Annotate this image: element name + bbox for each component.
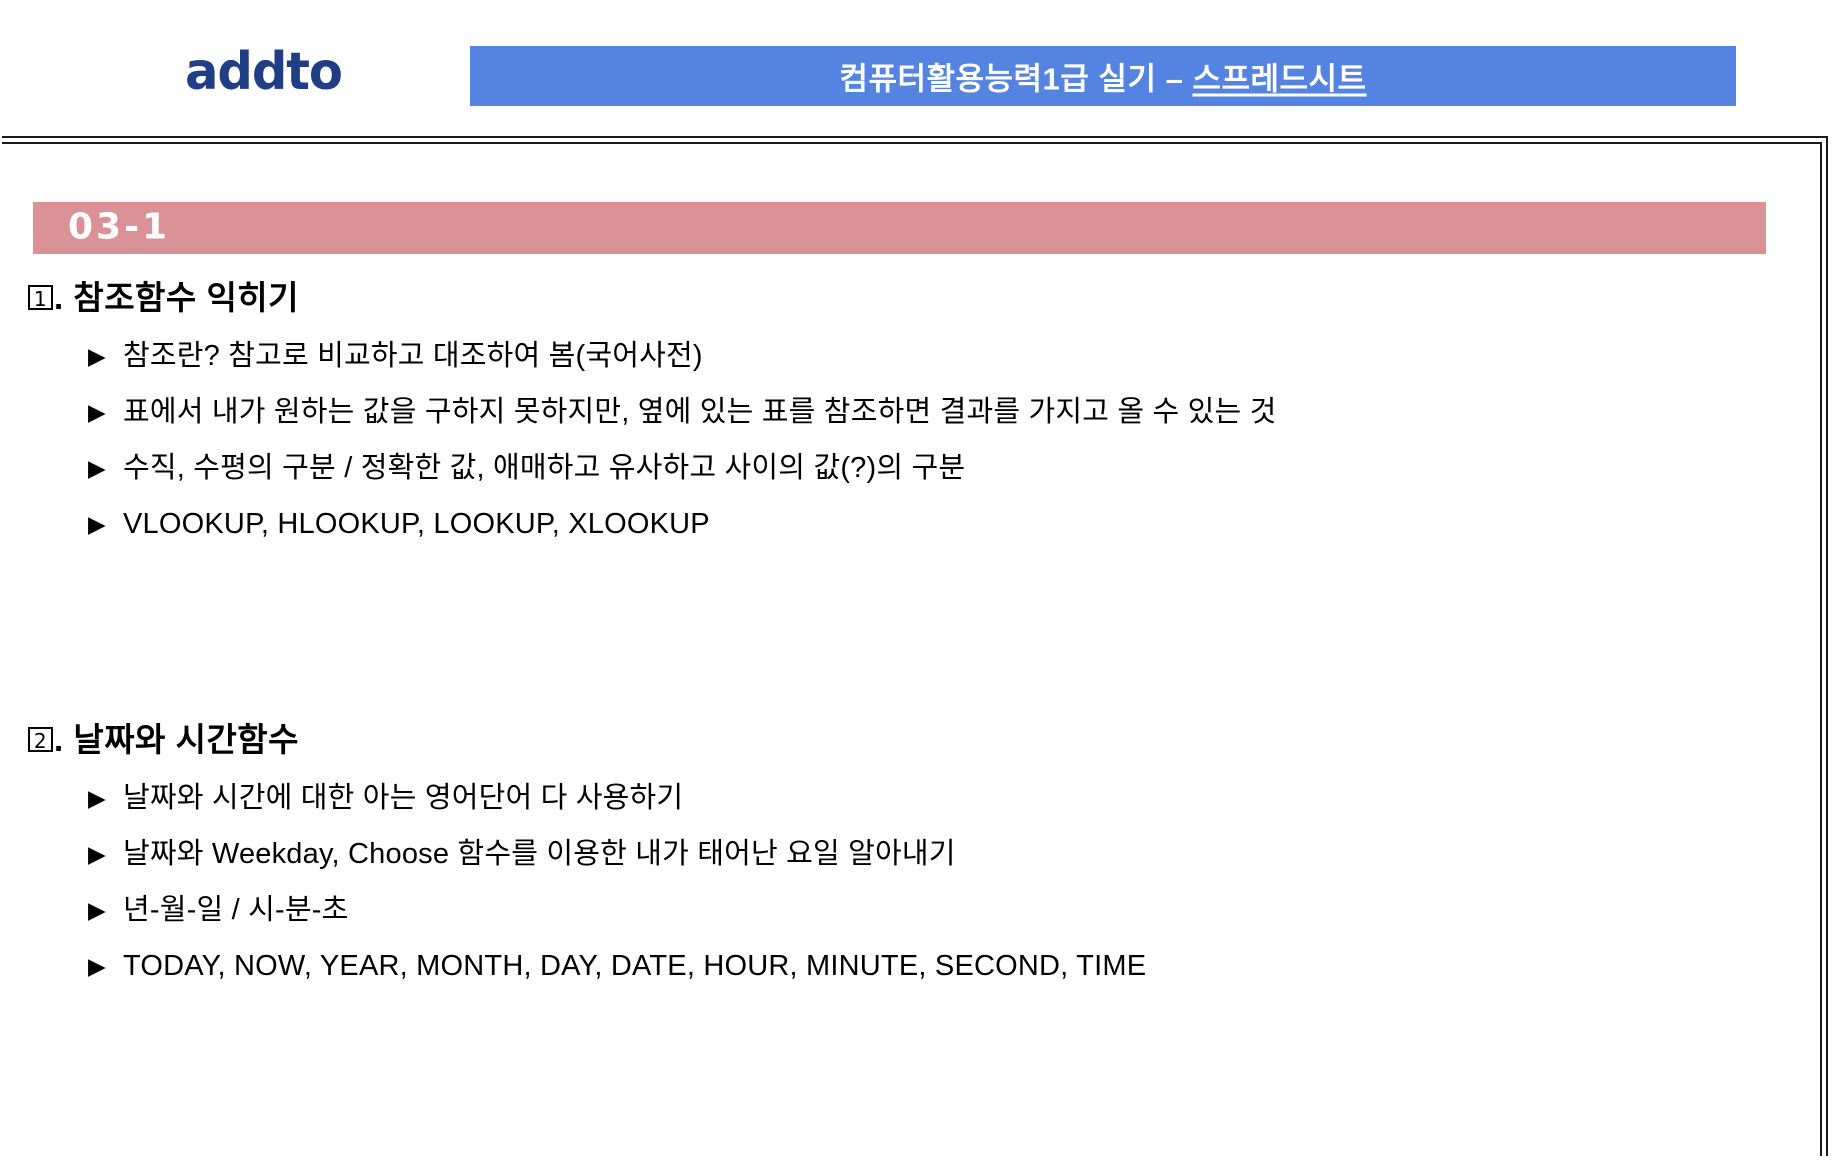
- triangle-bullet-icon: ▶: [88, 837, 106, 872]
- boxed-numeral-icon: 1: [28, 285, 53, 310]
- section-block-1: 1. 참조함수 익히기 ▶ 참조란? 참고로 비교하고 대조하여 봄(국어사전)…: [0, 278, 1836, 562]
- list-item-text: VLOOKUP, HLOOKUP, LOOKUP, XLOOKUP: [123, 506, 710, 543]
- triangle-bullet-icon: ▶: [88, 781, 106, 816]
- triangle-bullet-icon: ▶: [88, 507, 106, 542]
- section-heading-2: 2. 날짜와 시간함수: [28, 720, 1836, 760]
- section-heading-text: . 날짜와 시간함수: [54, 721, 299, 758]
- header-title: 컴퓨터활용능력1급 실기 – 스프레드시트: [470, 54, 1736, 99]
- bullet-list-2: ▶ 날짜와 시간에 대한 아는 영어단어 다 사용하기 ▶ 날짜와 Weekda…: [0, 780, 1836, 985]
- list-item: ▶ 날짜와 시간에 대한 아는 영어단어 다 사용하기: [0, 780, 1836, 817]
- list-item-text: TODAY, NOW, YEAR, MONTH, DAY, DATE, HOUR…: [123, 948, 1146, 985]
- header-title-underlined: 스프레드시트: [1192, 62, 1366, 97]
- section-block-2: 2. 날짜와 시간함수 ▶ 날짜와 시간에 대한 아는 영어단어 다 사용하기 …: [0, 720, 1836, 1004]
- list-item: ▶ 수직, 수평의 구분 / 정확한 값, 애매하고 유사하고 사이의 값(?)…: [0, 450, 1836, 487]
- triangle-bullet-icon: ▶: [88, 949, 106, 984]
- triangle-bullet-icon: ▶: [88, 395, 106, 430]
- bullet-list-1: ▶ 참조란? 참고로 비교하고 대조하여 봄(국어사전) ▶ 표에서 내가 원하…: [0, 338, 1836, 543]
- list-item-text: 수직, 수평의 구분 / 정확한 값, 애매하고 유사하고 사이의 값(?)의 …: [123, 450, 965, 487]
- section-banner: 03-1: [33, 202, 1766, 254]
- slide-header: addto 컴퓨터활용능력1급 실기 – 스프레드시트: [0, 0, 1836, 133]
- list-item-text: 날짜와 Weekday, Choose 함수를 이용한 내가 태어난 요일 알아…: [123, 836, 956, 873]
- section-banner-label: 03-1: [68, 207, 170, 248]
- header-title-bar: 컴퓨터활용능력1급 실기 – 스프레드시트: [470, 46, 1736, 106]
- triangle-bullet-icon: ▶: [88, 451, 106, 486]
- section-heading-text: . 참조함수 익히기: [54, 279, 299, 316]
- list-item-text: 표에서 내가 원하는 값을 구하지 못하지만, 옆에 있는 표를 참조하면 결과…: [123, 394, 1277, 431]
- list-item-text: 참조란? 참고로 비교하고 대조하여 봄(국어사전): [123, 338, 703, 375]
- list-item: ▶ 참조란? 참고로 비교하고 대조하여 봄(국어사전): [0, 338, 1836, 375]
- triangle-bullet-icon: ▶: [88, 339, 106, 374]
- boxed-numeral-icon: 2: [28, 727, 53, 752]
- list-item: ▶ 년-월-일 / 시-분-초: [0, 892, 1836, 929]
- section-heading-1: 1. 참조함수 익히기: [28, 278, 1836, 318]
- list-item-text: 날짜와 시간에 대한 아는 영어단어 다 사용하기: [123, 780, 683, 817]
- list-item-text: 년-월-일 / 시-분-초: [123, 892, 348, 929]
- list-item: ▶ TODAY, NOW, YEAR, MONTH, DAY, DATE, HO…: [0, 948, 1836, 985]
- list-item: ▶ 날짜와 Weekday, Choose 함수를 이용한 내가 태어난 요일 …: [0, 836, 1836, 873]
- addto-logo: addto: [185, 46, 342, 98]
- header-title-main: 컴퓨터활용능력1급 실기 –: [839, 62, 1192, 97]
- triangle-bullet-icon: ▶: [88, 893, 106, 928]
- list-item: ▶ 표에서 내가 원하는 값을 구하지 못하지만, 옆에 있는 표를 참조하면 …: [0, 394, 1836, 431]
- list-item: ▶ VLOOKUP, HLOOKUP, LOOKUP, XLOOKUP: [0, 506, 1836, 543]
